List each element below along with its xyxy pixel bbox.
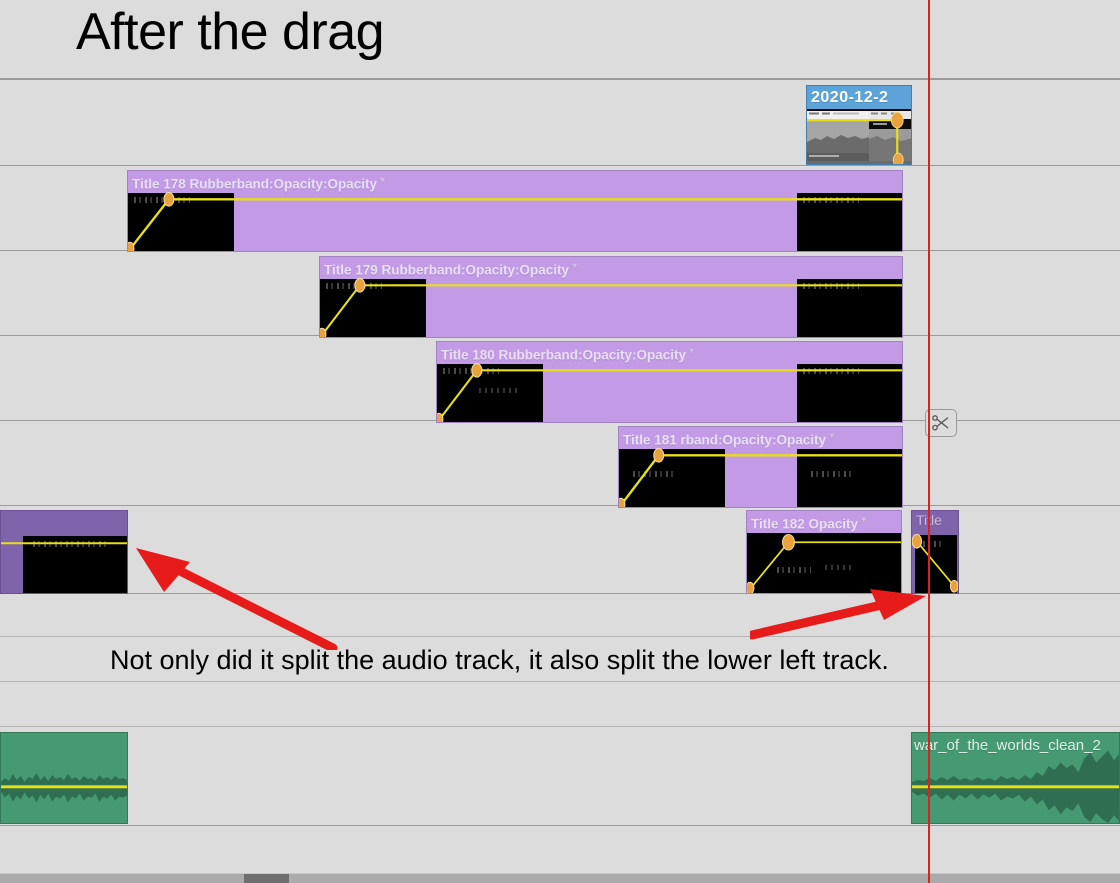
clip-label: Title 178 Rubberband:Opacity:Opacity▾ xyxy=(132,172,900,193)
annotation-arrow-right xyxy=(750,585,930,645)
slide-banner: After the drag xyxy=(0,0,1120,80)
clip-title-181[interactable]: Title 181 rband:Opacity:Opacity▾ xyxy=(618,426,903,508)
clip-label: Title 181 rband:Opacity:Opacity▾ xyxy=(623,428,900,449)
track-row-bottom-pad xyxy=(0,826,1120,873)
clip-thumbnail-tail xyxy=(797,364,903,423)
clip-thumbnail-head xyxy=(320,279,426,338)
thumbnail-noise xyxy=(923,541,945,547)
clip-label-text: Title 178 Rubberband:Opacity:Opacity xyxy=(132,177,377,192)
clip-label-text: Title 179 Rubberband:Opacity:Opacity xyxy=(324,263,569,278)
thumbnail-noise xyxy=(811,471,855,477)
clip-label: war_of_the_worlds_clean_2 xyxy=(914,736,1117,756)
thumbnail-noise xyxy=(134,197,190,203)
chevron-down-icon[interactable]: ▾ xyxy=(829,431,834,442)
chevron-down-icon[interactable]: ▾ xyxy=(380,175,385,186)
clip-label: 2020-12-2 xyxy=(811,87,909,109)
chevron-down-icon[interactable]: ▾ xyxy=(689,346,694,357)
clip-thumbnail-head xyxy=(619,449,725,508)
clip-label-text: Title 180 Rubberband:Opacity:Opacity xyxy=(441,348,686,363)
thumbnail-noise xyxy=(443,368,499,374)
thumbnail-noise xyxy=(803,368,859,374)
clip-label: Title 182 Opacity▾ xyxy=(751,512,899,533)
annotation-arrow-left xyxy=(128,530,338,650)
thumbnail-noise xyxy=(633,471,677,477)
thumbnail-noise xyxy=(803,283,859,289)
clip-video-2020[interactable]: 2020-12-2 xyxy=(806,85,912,165)
clip-label-text: Title 181 rband:Opacity:Opacity xyxy=(623,433,826,448)
thumbnail-noise xyxy=(825,565,855,570)
timeline-screenshot: After the drag 2020-12-2 xyxy=(0,0,1120,883)
clip-thumbnail-tail xyxy=(797,193,903,252)
clip-title-178[interactable]: Title 178 Rubberband:Opacity:Opacity▾ xyxy=(127,170,903,252)
track-row-annotation-b xyxy=(0,682,1120,727)
playhead[interactable] xyxy=(928,0,930,883)
clip-title-179[interactable]: Title 179 Rubberband:Opacity:Opacity▾ xyxy=(319,256,903,338)
scrollbar-thumb[interactable] xyxy=(244,874,289,883)
clip-thumbnail-head xyxy=(437,364,543,423)
chevron-down-icon[interactable]: ▾ xyxy=(572,261,577,272)
scissors-icon xyxy=(932,415,950,431)
page-title: After the drag xyxy=(76,1,384,63)
chevron-down-icon[interactable]: ▾ xyxy=(861,515,866,526)
clip-title-split-left[interactable] xyxy=(0,510,128,594)
track-row-video xyxy=(0,80,1120,166)
thumbnail-noise xyxy=(326,283,382,289)
clip-label: Title xyxy=(916,512,956,529)
clip-audio-left[interactable] xyxy=(0,732,128,824)
horizontal-scrollbar[interactable] xyxy=(0,873,1120,883)
clip-title-split-right[interactable]: Title xyxy=(911,510,959,594)
clip-thumbnail-tail xyxy=(797,279,903,338)
clip-audio-right[interactable]: war_of_the_worlds_clean_2 xyxy=(911,732,1120,824)
clip-label-text: Title 182 Opacity xyxy=(751,517,858,532)
thumbnail-noise xyxy=(777,567,811,573)
thumbnail-noise xyxy=(803,197,859,203)
clip-thumbnail xyxy=(23,536,128,594)
clip-title-182[interactable]: Title 182 Opacity▾ xyxy=(746,510,902,594)
clip-thumbnail-head xyxy=(128,193,234,252)
video-thumbnail-art xyxy=(807,109,912,165)
clip-thumbnail-tail xyxy=(797,449,903,508)
clip-label: Title 179 Rubberband:Opacity:Opacity▾ xyxy=(324,258,900,279)
clip-title-180[interactable]: Title 180 Rubberband:Opacity:Opacity▾ xyxy=(436,341,903,423)
clip-thumbnail xyxy=(807,109,912,165)
audio-waveform xyxy=(1,733,127,823)
thumbnail-noise xyxy=(33,541,109,547)
clip-label: Title 180 Rubberband:Opacity:Opacity▾ xyxy=(441,343,900,364)
thumbnail-noise xyxy=(479,388,521,393)
